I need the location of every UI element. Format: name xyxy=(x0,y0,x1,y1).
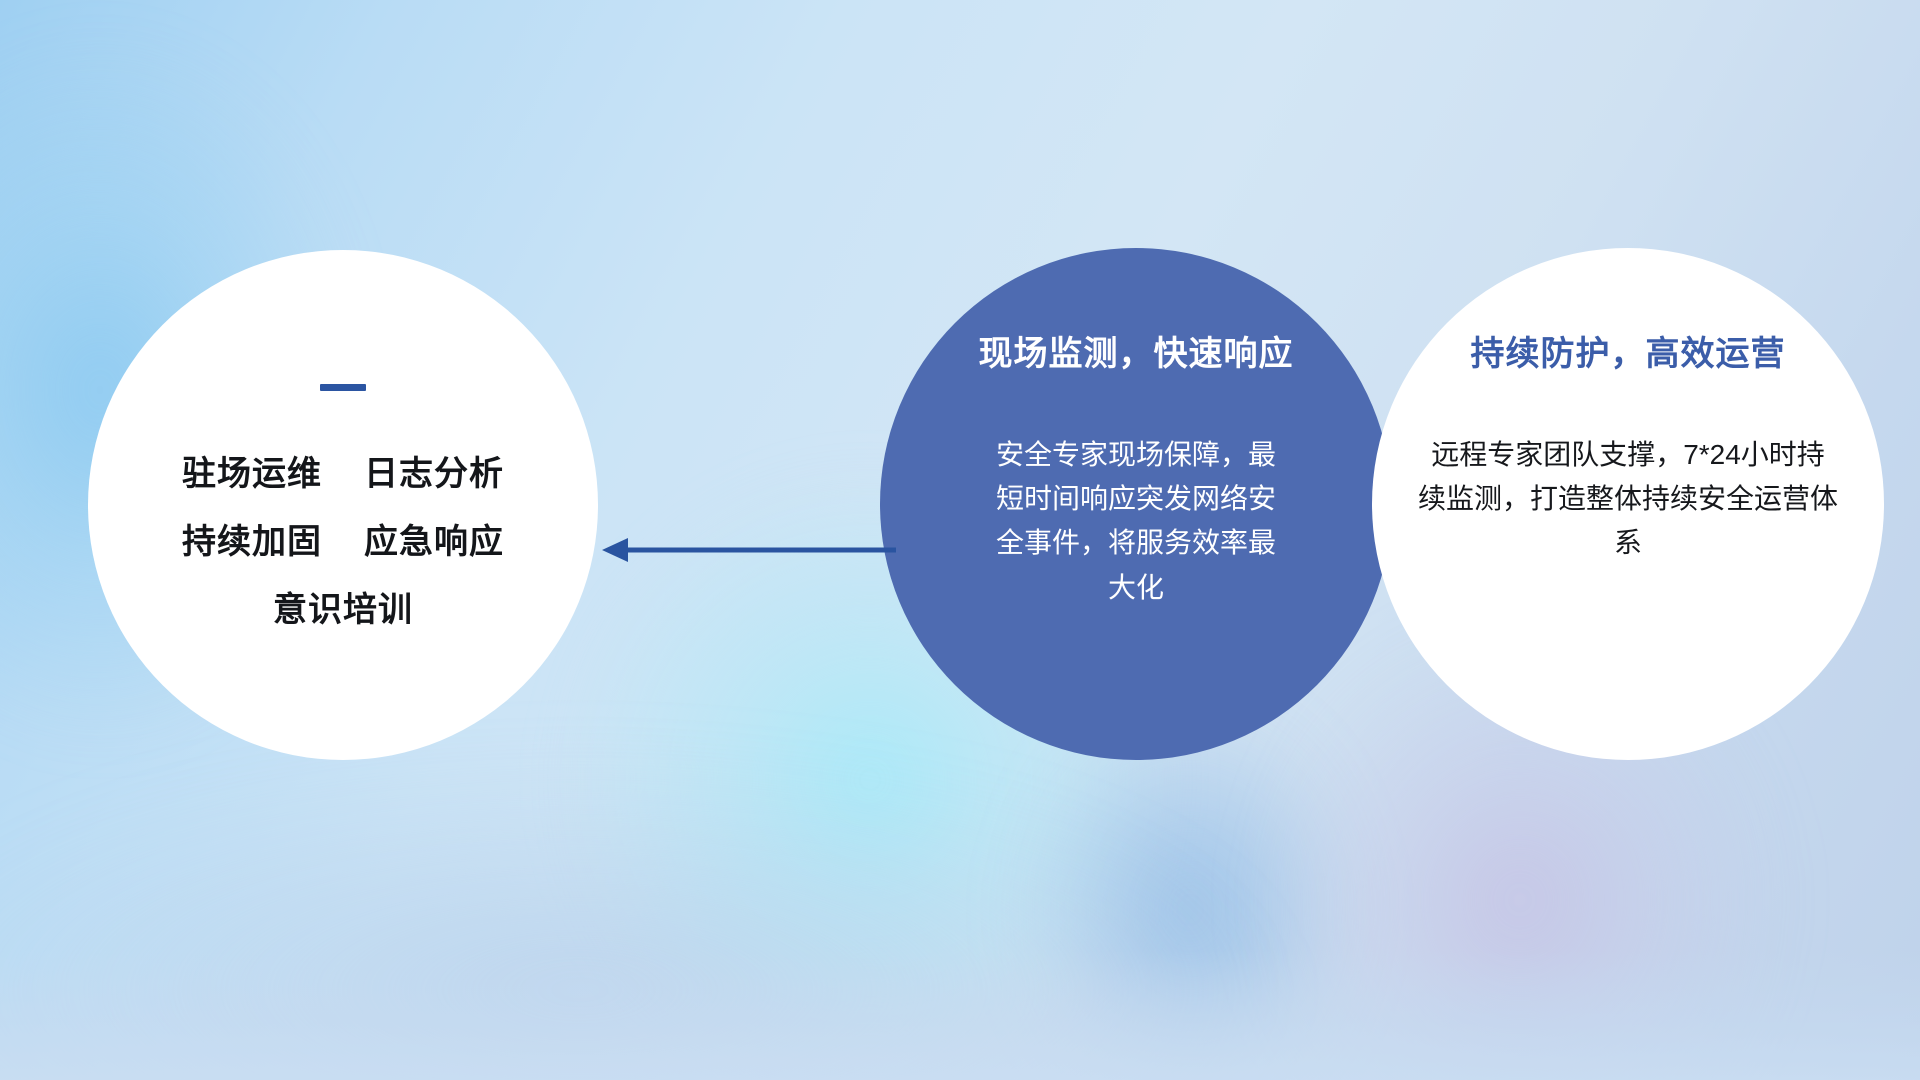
keyword-row: 意识培训 xyxy=(273,593,413,627)
keyword-row: 持续加固 应急响应 xyxy=(182,525,504,559)
background-bottom-band xyxy=(0,950,1920,1080)
keyword-item: 意识培训 xyxy=(273,593,413,627)
keyword-item: 驻场运维 xyxy=(182,457,322,491)
keyword-item: 应急响应 xyxy=(364,525,504,559)
circle-middle-heading: 现场监测，快速响应 xyxy=(979,334,1294,375)
keyword-item: 持续加固 xyxy=(182,525,322,559)
circle-right-continuous-protection: 持续防护，高效运营 远程专家团队支撑，7*24小时持续监测，打造整体持续安全运营… xyxy=(1372,248,1884,760)
keyword-list: 驻场运维 日志分析 持续加固 应急响应 意识培训 xyxy=(182,457,504,627)
divider-dash xyxy=(320,384,366,391)
circle-middle-body: 安全专家现场保障，最短时间响应突发网络安全事件，将服务效率最大化 xyxy=(986,433,1286,610)
circle-left-service-keywords: 驻场运维 日志分析 持续加固 应急响应 意识培训 xyxy=(88,250,598,760)
arrow-connector-middle-to-left xyxy=(596,520,896,580)
keyword-row: 驻场运维 日志分析 xyxy=(182,457,504,491)
keyword-item: 日志分析 xyxy=(364,457,504,491)
circle-middle-onsite-monitoring: 现场监测，快速响应 安全专家现场保障，最短时间响应突发网络安全事件，将服务效率最… xyxy=(880,248,1392,760)
circle-right-heading: 持续防护，高效运营 xyxy=(1471,334,1786,375)
circle-right-body: 远程专家团队支撑，7*24小时持续监测，打造整体持续安全运营体系 xyxy=(1418,433,1838,566)
arrow-left-icon xyxy=(596,520,896,580)
